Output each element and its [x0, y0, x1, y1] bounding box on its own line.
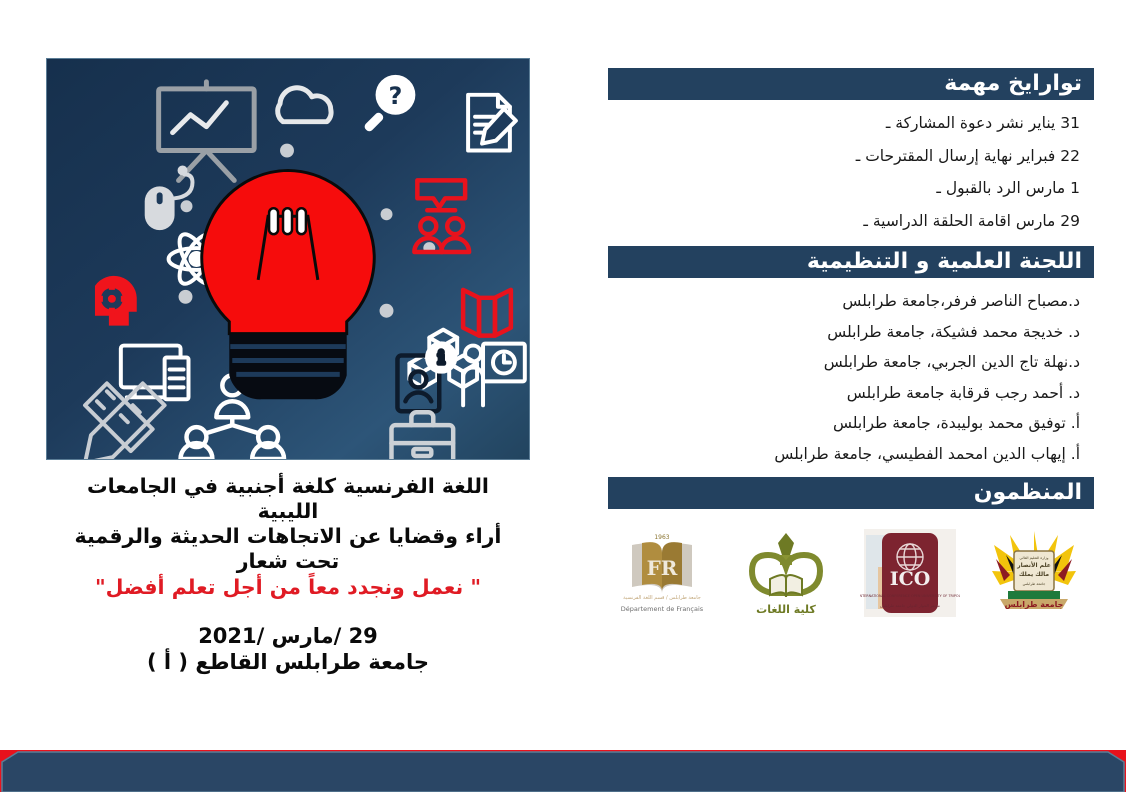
svg-text:?: ?: [389, 82, 403, 110]
section-header-dates: توارايخ مهمة: [608, 68, 1094, 100]
logo-caption-ar: مؤتمر الحوار الدولي جامعة طرابلس: [880, 603, 940, 608]
poster-title-block: اللغة الفرنسية كلغة أجنبية في الجامعات ا…: [46, 460, 530, 601]
committee-member: أ. توفيق محمد بوليبدة، جامعة طرابلس: [608, 416, 1088, 432]
logo-faculty-of-languages: كلية اللغات: [732, 527, 840, 619]
date-item: 31 يناير نشر دعوة المشاركة ـ: [608, 116, 1088, 132]
logo-year: 1963: [654, 534, 669, 541]
logo-caption-en: INTERNATIONAL CONFERENCE OPEN UNIVERSITY…: [860, 594, 960, 598]
logo-monogram: FR: [647, 556, 678, 580]
logo-caption-ar: كلية اللغات: [756, 603, 816, 616]
logo-departement-de-francais: 1963 FR جامعة طرابلس / قسم اللغة الفرنسي…: [608, 527, 716, 619]
event-date: 29 /مارس /2021: [46, 623, 530, 649]
logo-acronym: ICO: [890, 568, 931, 590]
committee-list: د.مصباح الناصر فرفر،جامعة طرابلس د. خديج…: [608, 278, 1094, 462]
logo-university-of-tripoli: وزارة التعليم العالي علم الأنصار مالك يم…: [980, 527, 1088, 619]
date-item: 1 مارس الرد بالقبول ـ: [608, 181, 1088, 197]
committee-member: د.نهلة تاج الدين الجربي، جامعة طرابلس: [608, 355, 1088, 371]
committee-member: د.مصباح الناصر فرفر،جامعة طرابلس: [608, 294, 1088, 310]
title-line-4: تحت شعار: [46, 549, 530, 574]
section-committee: اللجنة العلمية و التنظيمية د.مصباح الناص…: [608, 246, 1094, 462]
poster-slogan: " نعمل ونجدد معاً من أجل تعلم أفضل": [46, 575, 530, 601]
title-line-1: اللغة الفرنسية كلغة أجنبية في الجامعات: [46, 474, 530, 499]
section-header-committee: اللجنة العلمية و التنظيمية: [608, 246, 1094, 278]
logo-caption-fr: Département de Français: [621, 605, 704, 613]
svg-text:وزارة التعليم العالي: وزارة التعليم العالي: [1020, 556, 1049, 560]
date-venue-block: 29 /مارس /2021 جامعة طرابلس القاطع ( أ ): [46, 623, 530, 676]
committee-member: د. أحمد رجب قرقابة جامعة طرابلس: [608, 386, 1088, 402]
left-column: ?: [46, 58, 530, 675]
dates-list: 31 يناير نشر دعوة المشاركة ـ 22 فبراير ن…: [608, 100, 1094, 229]
svg-text:i: i: [438, 347, 444, 367]
committee-member: د. خديجة محمد فشيكة، جامعة طرابلس: [608, 325, 1088, 341]
svg-text:علم الأنصار: علم الأنصار: [1016, 561, 1051, 569]
logo-caption-ar: جامعة طرابلس: [1005, 600, 1064, 610]
date-item: 29 مارس اقامة الحلقة الدراسية ـ: [608, 214, 1088, 230]
bottom-decoration-bar: [0, 740, 1126, 792]
poster-page: ?: [0, 0, 1126, 792]
section-organizers: المنظمون 1963 FR جامعة طرابلس / قسم اللغ…: [608, 477, 1094, 619]
illustration-svg: ?: [47, 59, 529, 459]
section-header-organizers: المنظمون: [608, 477, 1094, 509]
title-line-2: الليبية: [46, 499, 530, 524]
section-important-dates: توارايخ مهمة 31 يناير نشر دعوة المشاركة …: [608, 68, 1094, 229]
bottom-navy-band: [2, 752, 1124, 792]
title-line-3: أراء وقضايا عن الاتجاهات الحديثة والرقمي…: [46, 524, 530, 549]
svg-text:جامعة طرابلس: جامعة طرابلس: [1023, 582, 1046, 586]
date-item: 22 فبراير نهاية إرسال المقترحات ـ: [608, 149, 1088, 165]
right-column: توارايخ مهمة 31 يناير نشر دعوة المشاركة …: [608, 68, 1094, 623]
svg-text:مالك يملك: مالك يملك: [1019, 571, 1049, 578]
logo-ico: ICO INTERNATIONAL CONFERENCE OPEN UNIVER…: [856, 527, 964, 619]
illustration-panel: ?: [46, 58, 530, 460]
event-venue: جامعة طرابلس القاطع ( أ ): [46, 649, 530, 675]
logo-caption-ar: جامعة طرابلس / قسم اللغة الفرنسية: [623, 595, 701, 601]
committee-member: أ. إيهاب الدين امحمد الفطيسي، جامعة طراب…: [608, 447, 1088, 463]
organizer-logos: 1963 FR جامعة طرابلس / قسم اللغة الفرنسي…: [608, 509, 1094, 619]
